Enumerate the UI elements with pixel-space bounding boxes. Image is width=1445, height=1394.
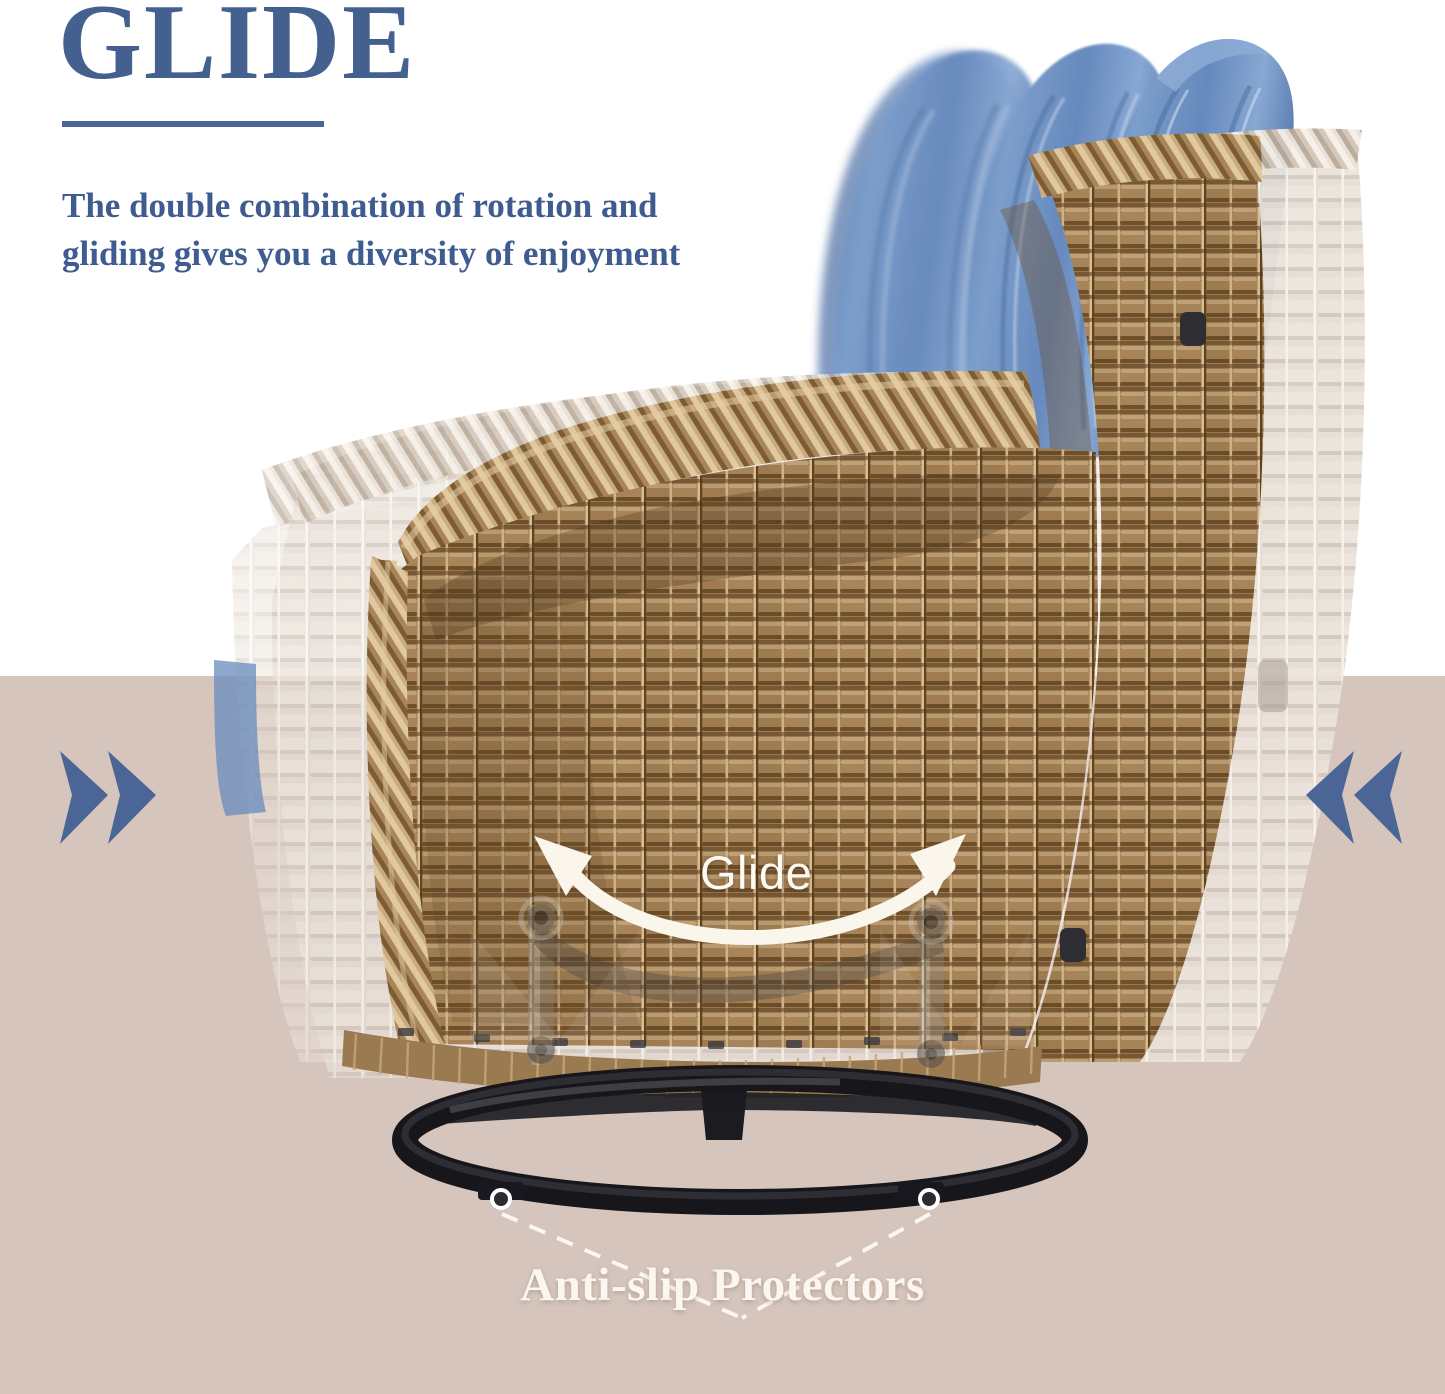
chevron-right-icon xyxy=(108,751,156,844)
subtitle: The double combination of rotation and g… xyxy=(62,182,862,279)
backrest-hardware-tab xyxy=(1180,312,1206,346)
product-feature-graphic: GLIDE The double combination of rotation… xyxy=(0,0,1445,1394)
motion-indicator-right xyxy=(1300,745,1410,855)
page-title: GLIDE xyxy=(58,0,416,99)
anti-slip-protector-marker-left xyxy=(490,1188,512,1210)
subtitle-line-1: The double combination of rotation and xyxy=(62,182,862,230)
motion-indicator-left xyxy=(52,745,162,855)
title-underline-rule xyxy=(62,121,324,127)
chevron-right-icon xyxy=(60,751,108,844)
anti-slip-protector-marker-right xyxy=(918,1188,940,1210)
glide-annotation-label: Glide xyxy=(700,845,812,900)
ghost-bracket xyxy=(1258,660,1288,712)
chevron-left-icon xyxy=(1306,751,1354,844)
anti-slip-protectors-caption: Anti-slip Protectors xyxy=(0,1258,1445,1312)
chevron-left-icon xyxy=(1354,751,1402,844)
subtitle-line-2: gliding gives you a diversity of enjoyme… xyxy=(62,230,862,278)
side-hardware-tab xyxy=(1060,928,1086,962)
swivel-base xyxy=(405,1072,1075,1202)
